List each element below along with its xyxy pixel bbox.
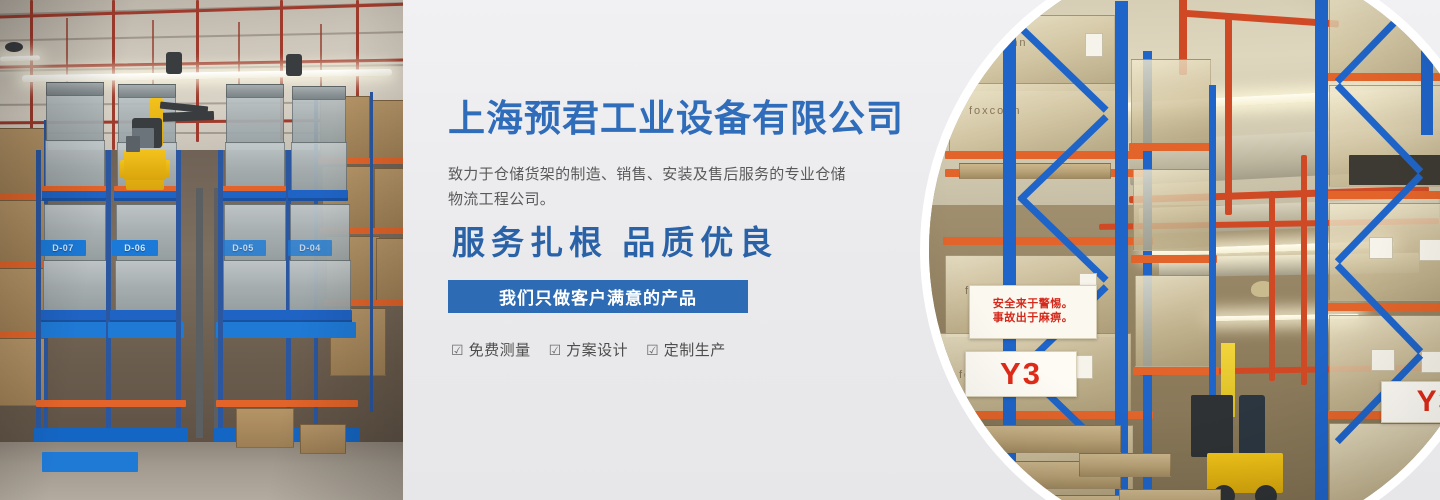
feature-item-custom-production: ☑ 定制生产: [646, 339, 726, 360]
left-warehouse-photo: D-07 D-06: [0, 0, 403, 500]
feature-label: 方案设计: [566, 339, 628, 360]
feature-label: 免费测量: [469, 339, 531, 360]
feature-list: ☑ 免费测量 ☑ 方案设计 ☑ 定制生产: [451, 339, 726, 360]
company-title: 上海预君工业设备有限公司: [448, 100, 904, 137]
company-subtitle: 致力于仓储货架的制造、销售、安装及售后服务的专业仓储物流工程公司。: [448, 163, 860, 213]
feature-item-free-measure: ☑ 免费测量: [451, 339, 531, 360]
banner-content: 上海预君工业设备有限公司 致力于仓储货架的制造、销售、安装及售后服务的专业仓储物…: [448, 0, 918, 500]
feature-label: 定制生产: [664, 339, 726, 360]
photo-vignette: [929, 0, 1440, 500]
hero-banner: D-07 D-06: [0, 0, 1440, 500]
right-warehouse-photo-wrapper: foxconn foxconn foxconn foxconn: [920, 0, 1440, 500]
feature-item-plan-design: ☑ 方案设计: [549, 339, 629, 360]
right-warehouse-photo: foxconn foxconn foxconn foxconn: [929, 0, 1440, 500]
photo-vignette: [0, 0, 403, 500]
check-box-icon: ☑: [646, 343, 659, 357]
check-box-icon: ☑: [451, 343, 464, 357]
cta-button[interactable]: 我们只做客户满意的产品: [448, 280, 748, 313]
slogan: 服务扎根 品质优良: [452, 228, 778, 261]
check-box-icon: ☑: [549, 343, 562, 357]
